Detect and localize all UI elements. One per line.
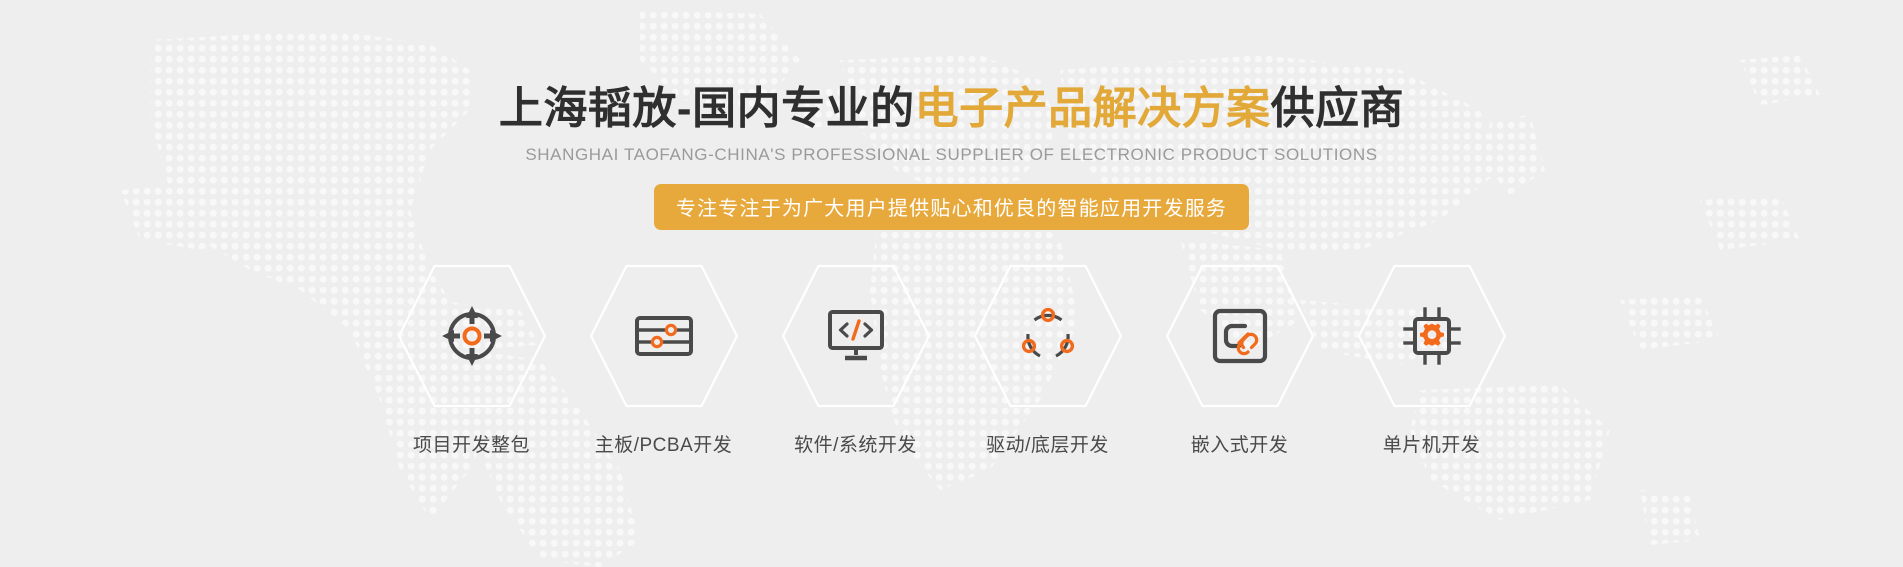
network-nodes-icon (1016, 304, 1080, 368)
hero-text-block: 上海韬放-国内专业的电子产品解决方案供应商 SHANGHAI TAOFANG-C… (0, 86, 1903, 230)
service-label: 主板/PCBA开发 (595, 430, 733, 457)
hexagon-frame-5 (1165, 262, 1315, 410)
service-list: 项目开发整包 主板/PCBA开发 (376, 262, 1528, 457)
title-part-2: 供应商 (1271, 84, 1405, 133)
service-item-pcba[interactable]: 主板/PCBA开发 (568, 262, 760, 457)
hexagon-frame-2 (589, 262, 739, 410)
tagline-badge: 专注专注于为广大用户提供贴心和优良的智能应用开发服务 (654, 184, 1249, 230)
service-label: 嵌入式开发 (1191, 430, 1289, 457)
service-item-project-package[interactable]: 项目开发整包 (376, 262, 568, 457)
service-label: 驱动/底层开发 (986, 430, 1109, 457)
hexagon-frame-6 (1357, 262, 1507, 410)
service-label: 单片机开发 (1383, 430, 1481, 457)
circuit-board-icon (632, 304, 696, 368)
hexagon-frame-3 (781, 262, 931, 410)
service-label: 软件/系统开发 (794, 430, 917, 457)
hexagon-frame-4 (973, 262, 1123, 410)
service-item-software[interactable]: 软件/系统开发 (760, 262, 952, 457)
promo-banner: 上海韬放-国内专业的电子产品解决方案供应商 SHANGHAI TAOFANG-C… (0, 0, 1903, 567)
service-item-embedded[interactable]: 嵌入式开发 (1144, 262, 1336, 457)
embedded-link-icon (1208, 304, 1272, 368)
english-subtitle: SHANGHAI TAOFANG-CHINA'S PROFESSIONAL SU… (0, 145, 1903, 165)
service-label: 项目开发整包 (413, 430, 530, 457)
hexagon-frame-1 (397, 262, 547, 410)
page-title: 上海韬放-国内专业的电子产品解决方案供应商 (0, 86, 1903, 132)
service-item-driver[interactable]: 驱动/底层开发 (952, 262, 1144, 457)
monitor-code-icon (824, 304, 888, 368)
service-item-mcu[interactable]: 单片机开发 (1336, 262, 1528, 457)
microchip-gear-icon (1400, 304, 1464, 368)
tagline-container: 专注专注于为广大用户提供贴心和优良的智能应用开发服务 (0, 184, 1903, 230)
target-crosshair-icon (440, 304, 504, 368)
title-highlight: 电子产品解决方案 (915, 84, 1271, 133)
title-part-1: 上海韬放-国内专业的 (499, 84, 915, 133)
